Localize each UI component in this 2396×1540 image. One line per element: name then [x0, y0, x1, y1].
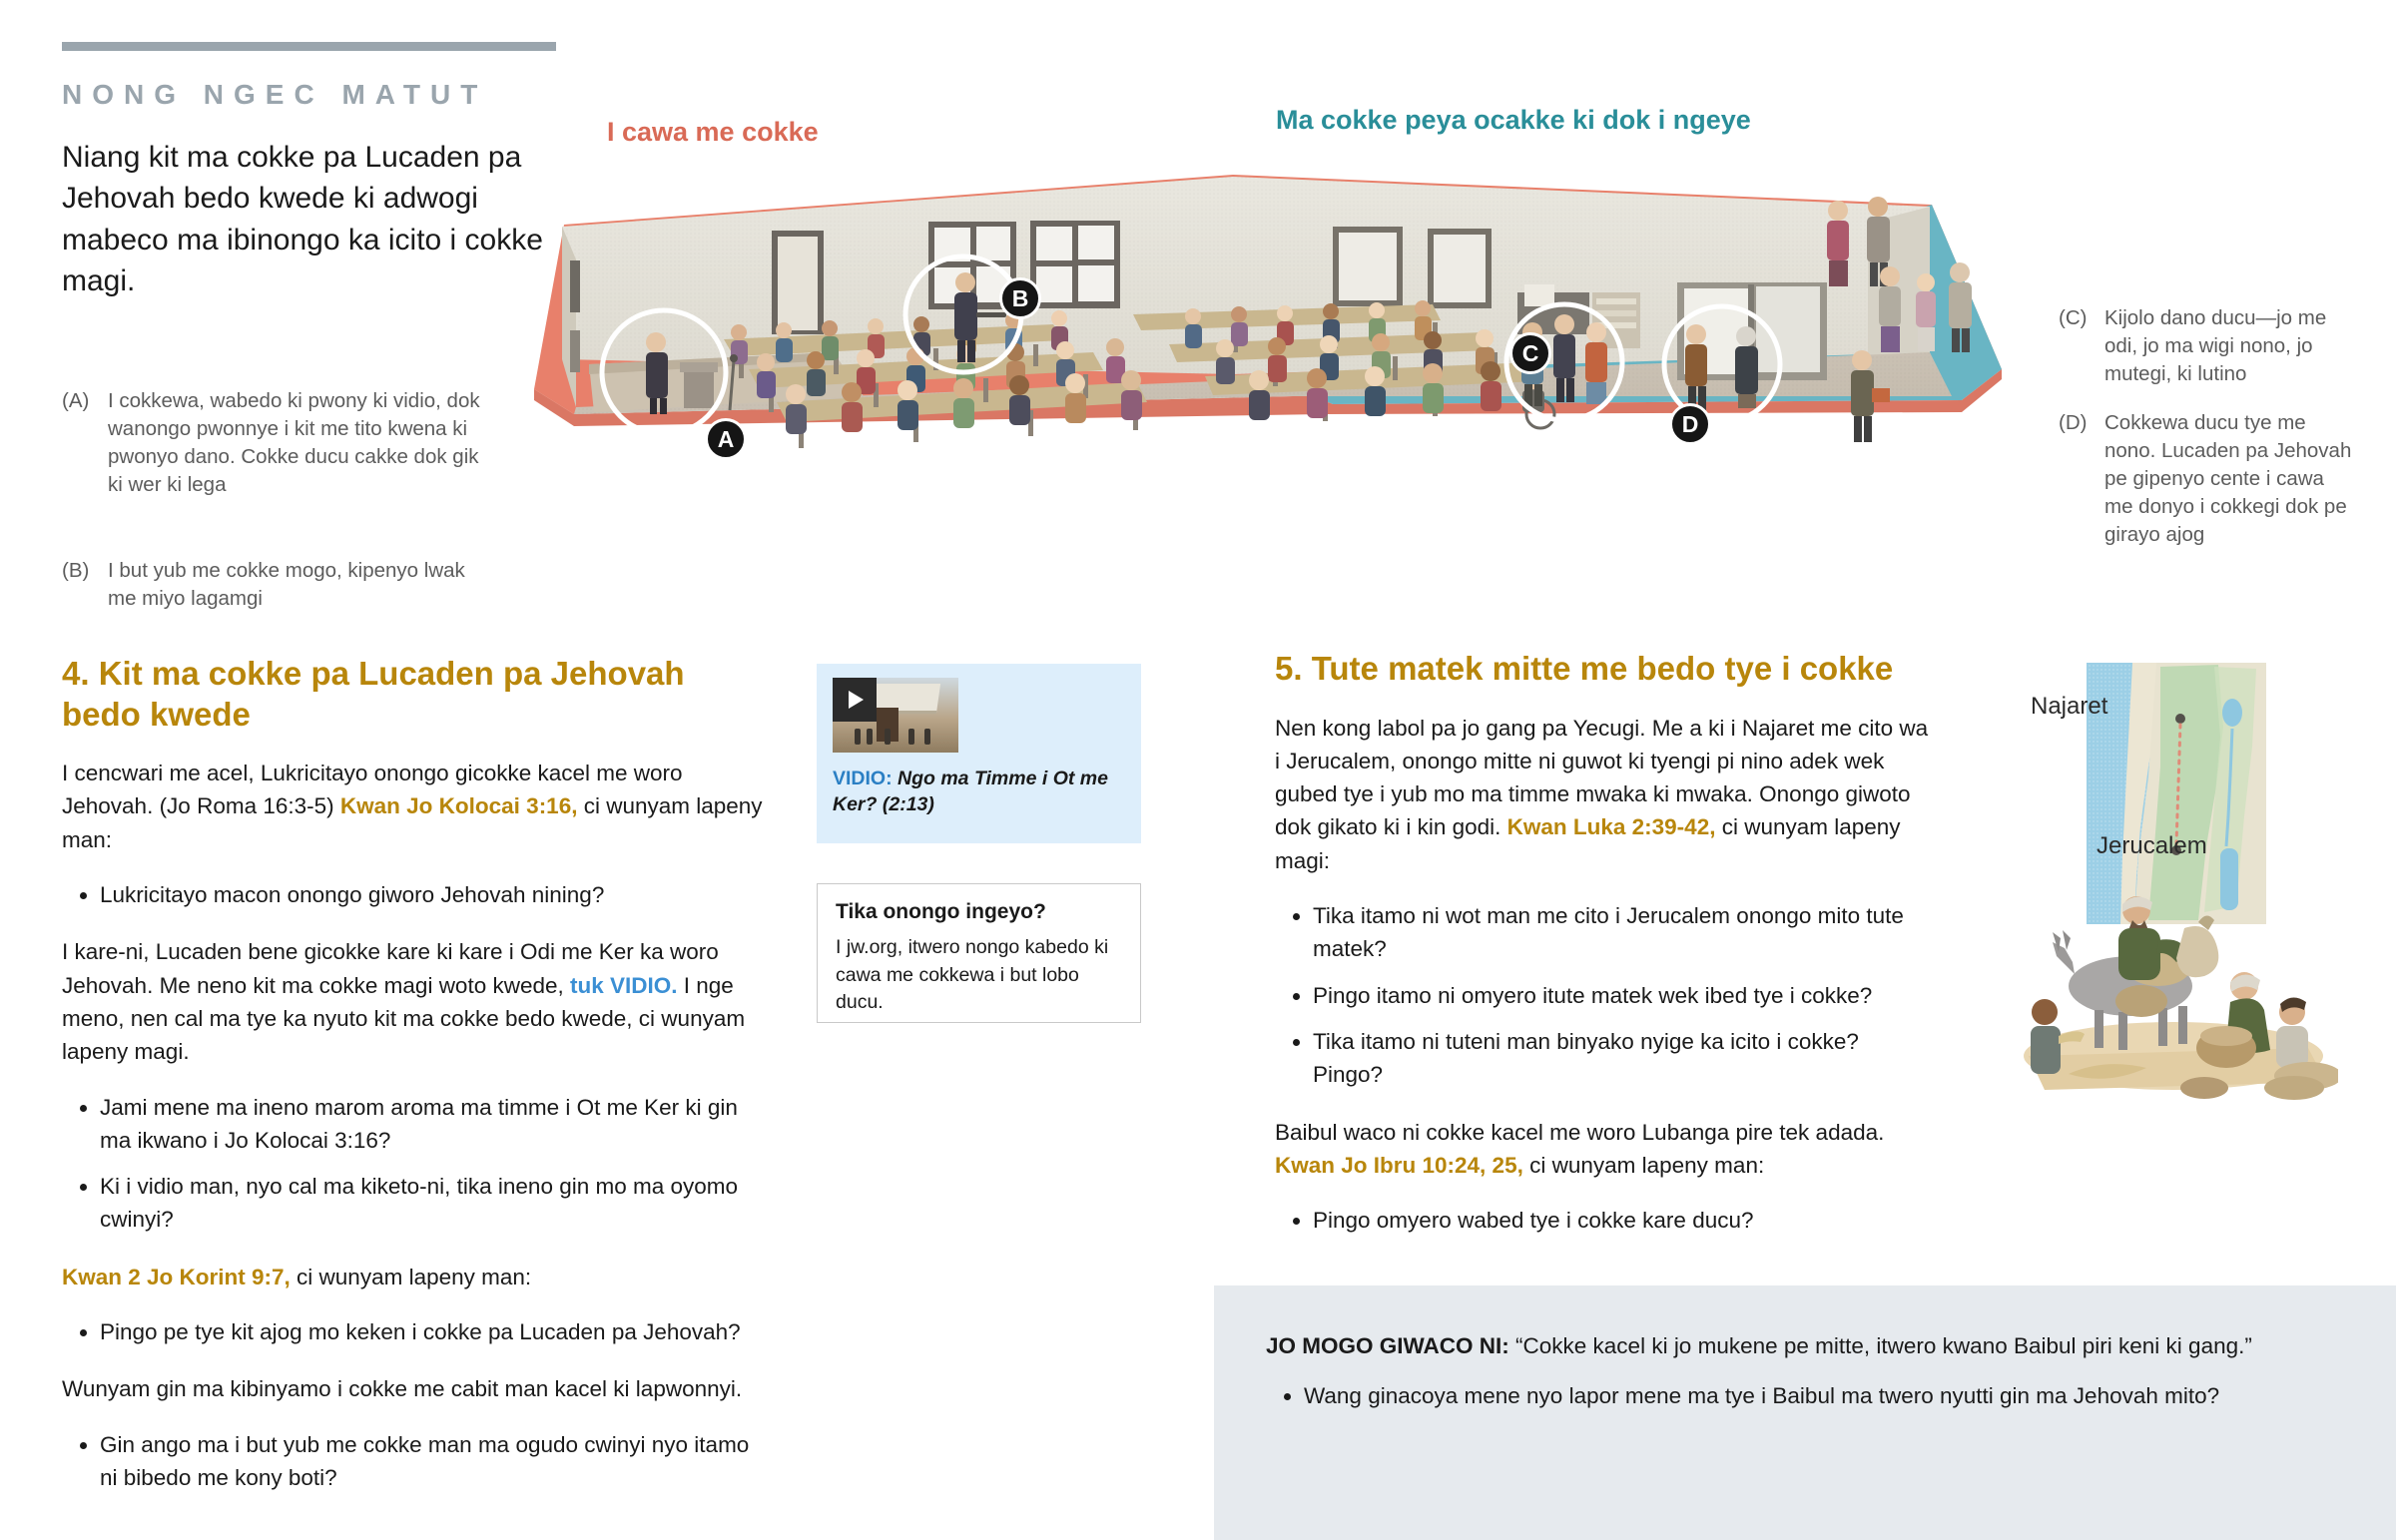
list-item: Tika itamo ni tuteni man binyako nyige k… [1313, 1025, 1934, 1092]
video-label: VIDIO: [833, 768, 893, 789]
s4-p3-scripture-ref[interactable]: Kwan 2 Jo Korint 9:7, [62, 1265, 291, 1289]
child-head [2032, 999, 2058, 1025]
section-4-paragraph-1: I cencwari me acel, Lukricitayo onongo g… [62, 757, 766, 856]
list-item: Lukricitayo macon onongo giworo Jehovah … [100, 878, 766, 911]
marker-d: D [1669, 403, 1711, 445]
s4-p3-b: ci wunyam lapeny man: [291, 1265, 531, 1289]
marker-a: A [705, 418, 747, 460]
video-callout-box[interactable]: VIDIO: Ngo ma Timme i Ot me Ker? (2:13) [817, 664, 1141, 843]
section-5-paragraph-2: Baibul waco ni cokke kacel me woro Luban… [1275, 1116, 1934, 1183]
quote-label: JO MOGO GIWACO NI: [1266, 1333, 1509, 1358]
play-icon[interactable] [833, 678, 877, 722]
figure-caption-b: (B) I but yub me cokke mogo, kipenyo lwa… [62, 557, 481, 613]
caption-tag-b: (B) [62, 557, 108, 613]
map-svg [2009, 657, 2338, 1116]
rider-robe [2118, 928, 2160, 980]
did-you-know-box: Tika onongo ingeyo? I jw.org, itwero non… [817, 883, 1141, 1023]
video-caption: VIDIO: Ngo ma Timme i Ot me Ker? (2:13) [833, 766, 1125, 818]
section-4-questions-4: Gin ango ma i but yub me cokke man ma og… [62, 1428, 766, 1495]
list-item: Pingo omyero wabed tye i cokke kare ducu… [1313, 1204, 1934, 1237]
quote-text: “Cokke kacel ki jo mukene pe mitte, itwe… [1509, 1333, 2252, 1358]
section-5-heading: 5. Tute matek mitte me bedo tye i cokke [1275, 649, 1934, 690]
video-duration: (2:13) [883, 793, 934, 815]
nazareth-jerusalem-artwork: Najaret Jerucalem [2009, 657, 2338, 1116]
did-you-know-title: Tika onongo ingeyo? [836, 900, 1122, 924]
figure-caption-a: (A) I cokkewa, wabedo ki pwony ki vidio,… [62, 387, 481, 499]
list-item: Ki i vidio man, nyo cal ma kiketo-ni, ti… [100, 1170, 766, 1237]
did-you-know-text: I jw.org, itwero nongo kabedo ki cawa me… [836, 934, 1122, 1017]
sack [2176, 926, 2218, 977]
s5-p2-a: Baibul waco ni cokke kacel me woro Luban… [1275, 1120, 1884, 1145]
intro-block: NONG NGEC MATUT Niang kit ma cokke pa Lu… [62, 42, 561, 302]
section-4-questions-1: Lukricitayo macon onongo giworo Jehovah … [62, 878, 766, 911]
s5-p2-b: ci wunyam lapeny man: [1523, 1153, 1764, 1178]
donkey-head [2053, 942, 2075, 974]
section-5: 5. Tute matek mitte me bedo tye i cokke … [1275, 649, 1934, 1261]
section-5-questions-1: Tika itamo ni wot man me cito i Jerucale… [1275, 899, 1934, 1091]
thumb-figure [855, 729, 861, 745]
caption-text-b: I but yub me cokke mogo, kipenyo lwak me… [108, 557, 481, 613]
boy-tunic [2276, 1026, 2308, 1068]
intro-paragraph: Niang kit ma cokke pa Lucaden pa Jehovah… [62, 137, 561, 302]
marker-c: C [1509, 332, 1551, 374]
caption-text-d: Cokkewa ducu tye me nono. Lucaden pa Jeh… [2104, 409, 2358, 549]
marker-b: B [999, 277, 1041, 319]
dead-sea [2220, 848, 2238, 910]
nazareth-dot [2175, 714, 2185, 724]
section-5-questions-2: Pingo omyero wabed tye i cokke kare ducu… [1275, 1204, 1934, 1237]
video-link[interactable]: tuk VIDIO. [570, 973, 678, 998]
wall-screen [570, 260, 580, 312]
caption-tag-c: (C) [2059, 304, 2104, 388]
s5-p1-scripture-ref[interactable]: Kwan Luka 2:39-42, [1507, 814, 1716, 839]
list-item: Tika itamo ni wot man me cito i Jerucale… [1313, 899, 1934, 966]
child-tunic [2031, 1026, 2061, 1074]
map-label-jerucalem: Jerucalem [2096, 832, 2207, 860]
thumb-figure [885, 729, 891, 745]
kingdom-hall-illustration: A B C D [534, 165, 2002, 599]
s4-p1-scripture-ref[interactable]: Kwan Jo Kolocai 3:16, [340, 793, 578, 818]
section-4-paragraph-3: Kwan 2 Jo Korint 9:7, ci wunyam lapeny m… [62, 1261, 766, 1293]
list-item: Jami mene ma ineno marom aroma ma timme … [100, 1091, 766, 1158]
intro-rule [62, 42, 556, 51]
list-item: Pingo itamo ni omyero itute matek wek ib… [1313, 979, 1934, 1012]
thumb-figure [908, 729, 914, 745]
list-item: Wang ginacoya mene nyo lapor mene ma tye… [1304, 1379, 2344, 1413]
literature-items [1596, 298, 1636, 328]
list-item: Pingo pe tye kit ajog mo keken i cokke p… [100, 1315, 766, 1348]
section-5-paragraph-1: Nen kong labol pa jo gang pa Yecugi. Me … [1275, 712, 1934, 877]
intro-kicker: NONG NGEC MATUT [62, 79, 561, 111]
quote-questions: Wang ginacoya mene nyo lapor mene ma tye… [1266, 1379, 2344, 1413]
caption-text-c: Kijolo dano ducu—jo me odi, jo ma wigi n… [2104, 304, 2358, 388]
illustration-header-left: I cawa me cokke [607, 117, 819, 148]
caption-tag-d: (D) [2059, 409, 2104, 549]
figure-caption-d: (D) Cokkewa ducu tye me nono. Lucaden pa… [2059, 409, 2358, 549]
thumb-figure [924, 729, 930, 745]
section-4-paragraph-4: Wunyam gin ma kibinyamo i cokke me cabit… [62, 1372, 766, 1405]
counter-sign [1524, 284, 1554, 306]
section-4-heading: 4. Kit ma cokke pa Lucaden pa Jehovah be… [62, 654, 766, 735]
section-4: 4. Kit ma cokke pa Lucaden pa Jehovah be… [62, 654, 766, 1518]
section-4-paragraph-2: I kare-ni, Lucaden bene gicokke kare ki … [62, 935, 766, 1068]
thumb-figure [867, 729, 873, 745]
caption-text-a: I cokkewa, wabedo ki pwony ki vidio, dok… [108, 387, 481, 499]
kingdom-hall-svg [534, 165, 2002, 599]
list-item: Gin ango ma i but yub me cokke man ma og… [100, 1428, 766, 1495]
section-4-questions-3: Pingo pe tye kit ajog mo keken i cokke p… [62, 1315, 766, 1348]
quote-lead: JO MOGO GIWACO NI: “Cokke kacel ki jo mu… [1266, 1329, 2344, 1363]
s5-p2-scripture-ref[interactable]: Kwan Jo Ibru 10:24, 25, [1275, 1153, 1523, 1178]
some-people-say-box: JO MOGO GIWACO NI: “Cokke kacel ki jo mu… [1214, 1285, 2396, 1540]
figure-caption-c: (C) Kijolo dano ducu—jo me odi, jo ma wi… [2059, 304, 2358, 388]
section-4-questions-2: Jami mene ma ineno marom aroma ma timme … [62, 1091, 766, 1237]
bedroll [2264, 1076, 2324, 1100]
hall-door [778, 237, 818, 330]
sea-of-galilee [2222, 699, 2242, 727]
wall-panel [570, 330, 580, 372]
video-thumbnail[interactable] [833, 678, 958, 753]
family-travel-scene [2024, 896, 2338, 1100]
map-label-najaret: Najaret [2031, 693, 2107, 721]
travel-bag [2180, 1077, 2228, 1099]
caption-tag-a: (A) [62, 387, 108, 499]
illustration-header-right: Ma cokke peya ocakke ki dok i ngeye [1276, 105, 1751, 136]
